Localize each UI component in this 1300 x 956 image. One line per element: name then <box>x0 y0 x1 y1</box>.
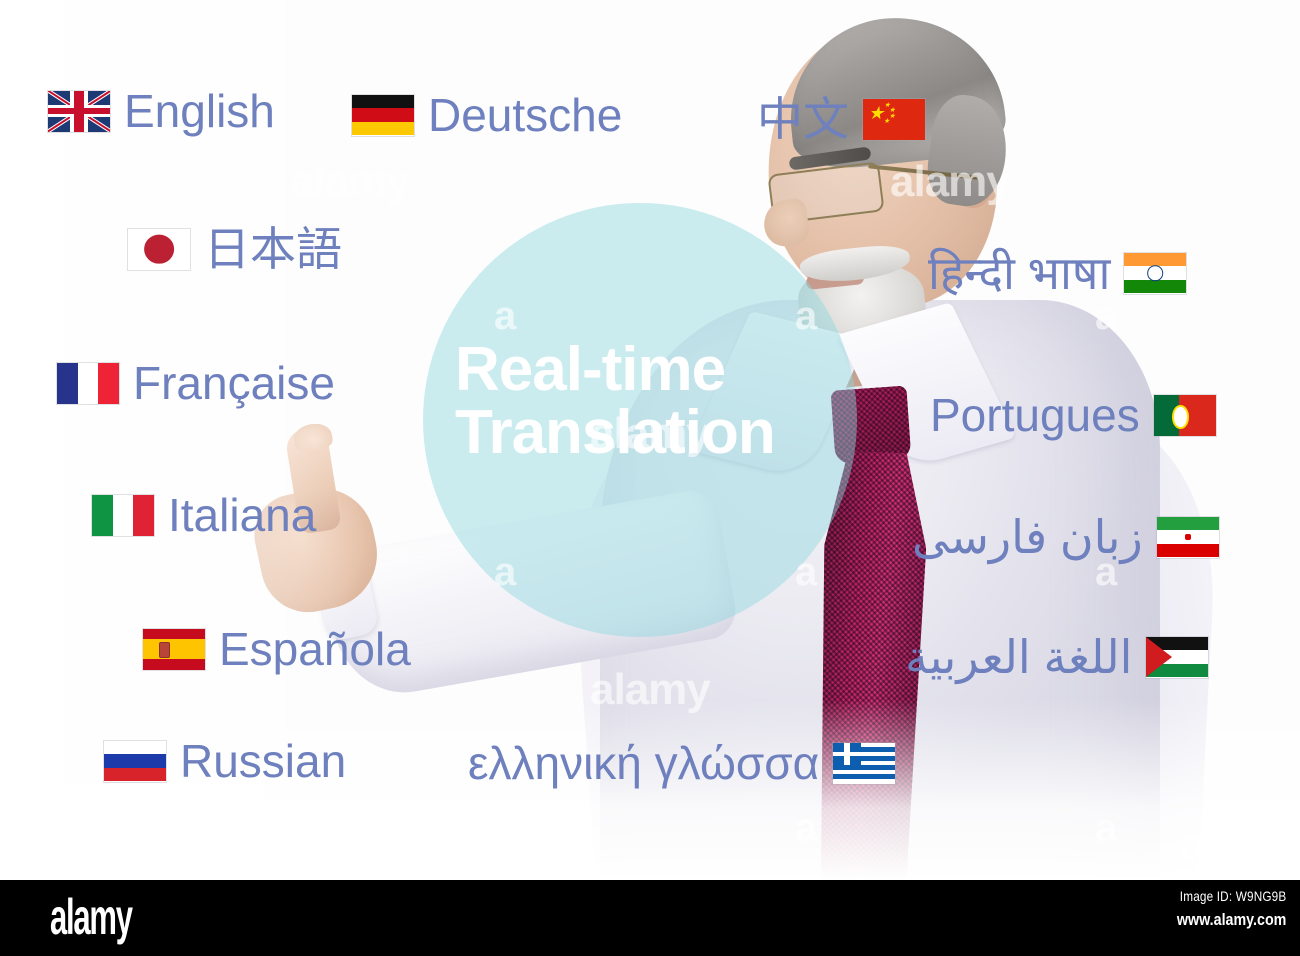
palestine-flag-icon <box>1146 637 1208 678</box>
china-flag-icon: ★★★★★ <box>863 99 925 140</box>
hero-title: Real-time Translation <box>455 338 875 464</box>
language-option-persian[interactable]: زبان فارسی <box>912 514 1219 560</box>
japan-flag-icon <box>128 229 190 270</box>
photo-bottom-fade <box>0 700 1300 880</box>
language-option-italiana[interactable]: Italiana <box>92 492 316 538</box>
language-label: 中文 <box>757 96 849 142</box>
italy-flag-icon <box>92 495 154 536</box>
spain-flag-icon <box>143 629 205 670</box>
language-option-deutsche[interactable]: Deutsche <box>352 92 622 138</box>
language-label: 日本語 <box>204 226 342 272</box>
uk-flag-icon <box>48 91 110 132</box>
language-label: ελληνική γλώσσα <box>468 740 819 786</box>
language-option-english[interactable]: English <box>48 88 275 134</box>
screenshot-stage: Real-time Translation English Deutsche 中… <box>0 0 1300 956</box>
language-label: Française <box>133 360 335 406</box>
hero-title-line2: Translation <box>455 401 875 464</box>
alamy-footer-bar: alamy Image ID: W9NG9B www.alamy.com <box>0 880 1300 956</box>
language-option-portugues[interactable]: Portugues <box>930 392 1216 438</box>
india-flag-icon <box>1124 253 1186 294</box>
language-label: زبان فارسی <box>912 514 1143 560</box>
image-id-text: Image ID: W9NG9B <box>1176 888 1286 904</box>
language-option-greek[interactable]: ελληνική γλώσσα <box>468 740 895 786</box>
language-label: English <box>124 88 275 134</box>
language-label: اللغة العربية <box>905 634 1132 680</box>
language-option-russian[interactable]: Russian <box>104 738 346 784</box>
alamy-url-text: www.alamy.com <box>1176 910 1286 930</box>
language-option-espanola[interactable]: Española <box>143 626 411 672</box>
language-option-chinese[interactable]: 中文 ★★★★★ <box>757 96 925 142</box>
portugal-flag-icon <box>1154 395 1216 436</box>
greece-flag-icon <box>833 743 895 784</box>
hero-title-line1: Real-time <box>455 335 725 404</box>
language-option-arabic[interactable]: اللغة العربية <box>905 634 1208 680</box>
language-label: Russian <box>180 738 346 784</box>
russia-flag-icon <box>104 741 166 782</box>
language-label: Española <box>219 626 411 672</box>
language-option-japanese[interactable]: 日本語 <box>128 226 342 272</box>
alamy-logo: alamy <box>50 888 132 946</box>
france-flag-icon <box>57 363 119 404</box>
language-label: Deutsche <box>428 92 622 138</box>
germany-flag-icon <box>352 95 414 136</box>
language-option-francaise[interactable]: Française <box>57 360 335 406</box>
language-label: Portugues <box>930 392 1140 438</box>
language-label: Italiana <box>168 492 316 538</box>
language-label: हिन्दी भाषा <box>928 250 1110 296</box>
footer-meta: Image ID: W9NG9B www.alamy.com <box>1156 888 1286 930</box>
language-option-hindi[interactable]: हिन्दी भाषा <box>928 250 1186 296</box>
iran-flag-icon <box>1157 517 1219 558</box>
